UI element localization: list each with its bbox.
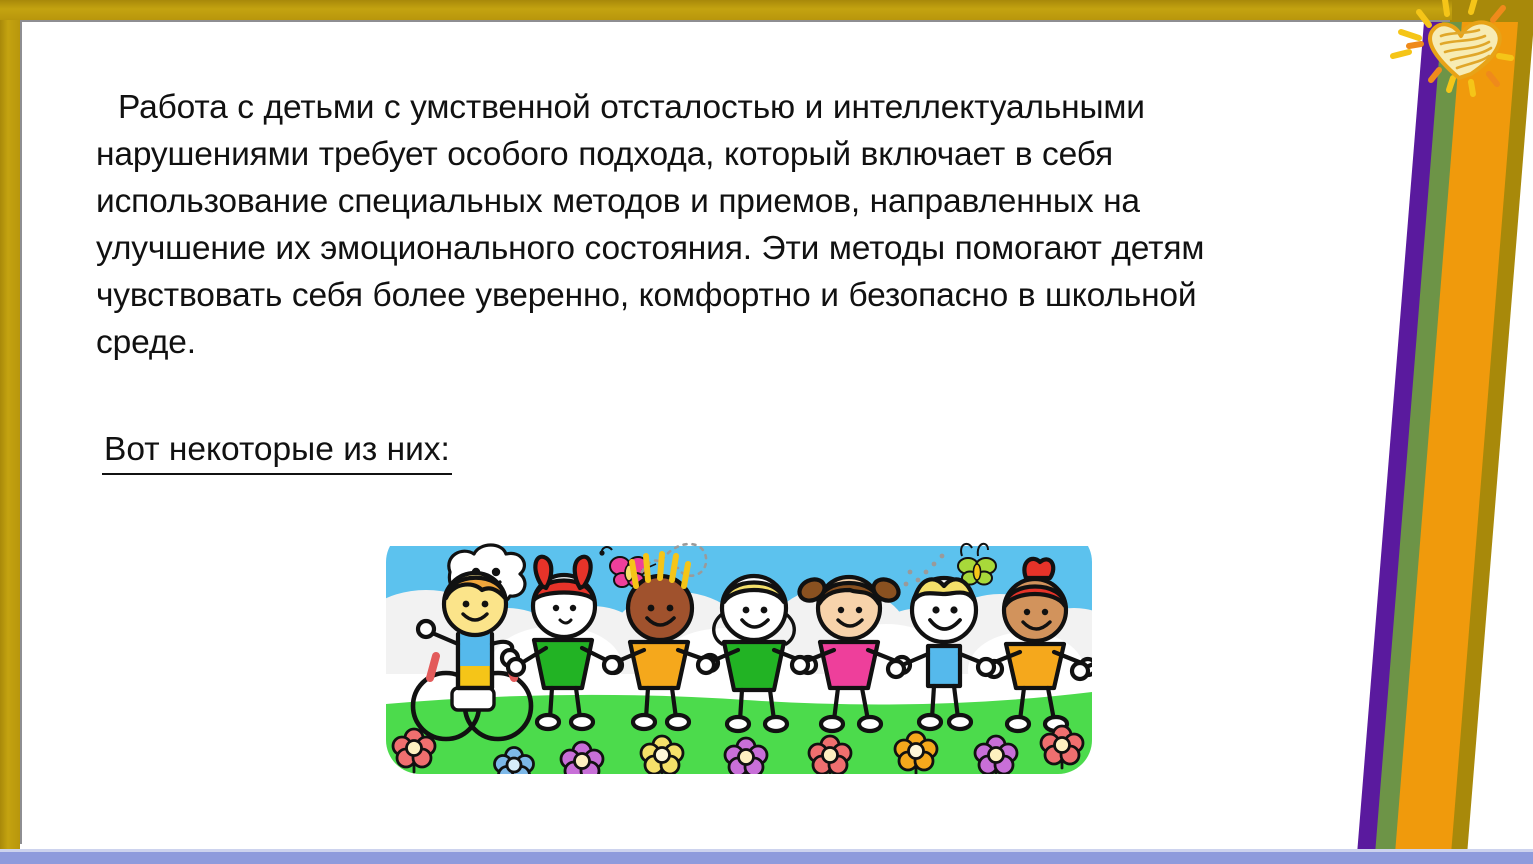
children-illustration <box>386 528 1092 774</box>
slide-frame-left <box>0 0 20 864</box>
slide-frame-inner-line-horizontal <box>20 20 1450 22</box>
presentation-slide: Работа с детьми с умственной отсталостью… <box>0 0 1533 864</box>
text-spacer <box>96 366 1296 428</box>
bottom-status-bar <box>0 852 1533 864</box>
slide-text-block: Работа с детьми с умственной отсталостью… <box>96 84 1296 475</box>
decorative-diagonal-stripes <box>1343 0 1533 864</box>
subheading-text: Вот некоторые из них: <box>102 428 452 475</box>
slide-frame-inner-line-vertical <box>20 20 22 844</box>
subheading-wrapper: Вот некоторые из них: <box>96 428 1296 475</box>
body-paragraph: Работа с детьми с умственной отсталостью… <box>96 84 1296 366</box>
slide-frame-top <box>0 0 1452 20</box>
